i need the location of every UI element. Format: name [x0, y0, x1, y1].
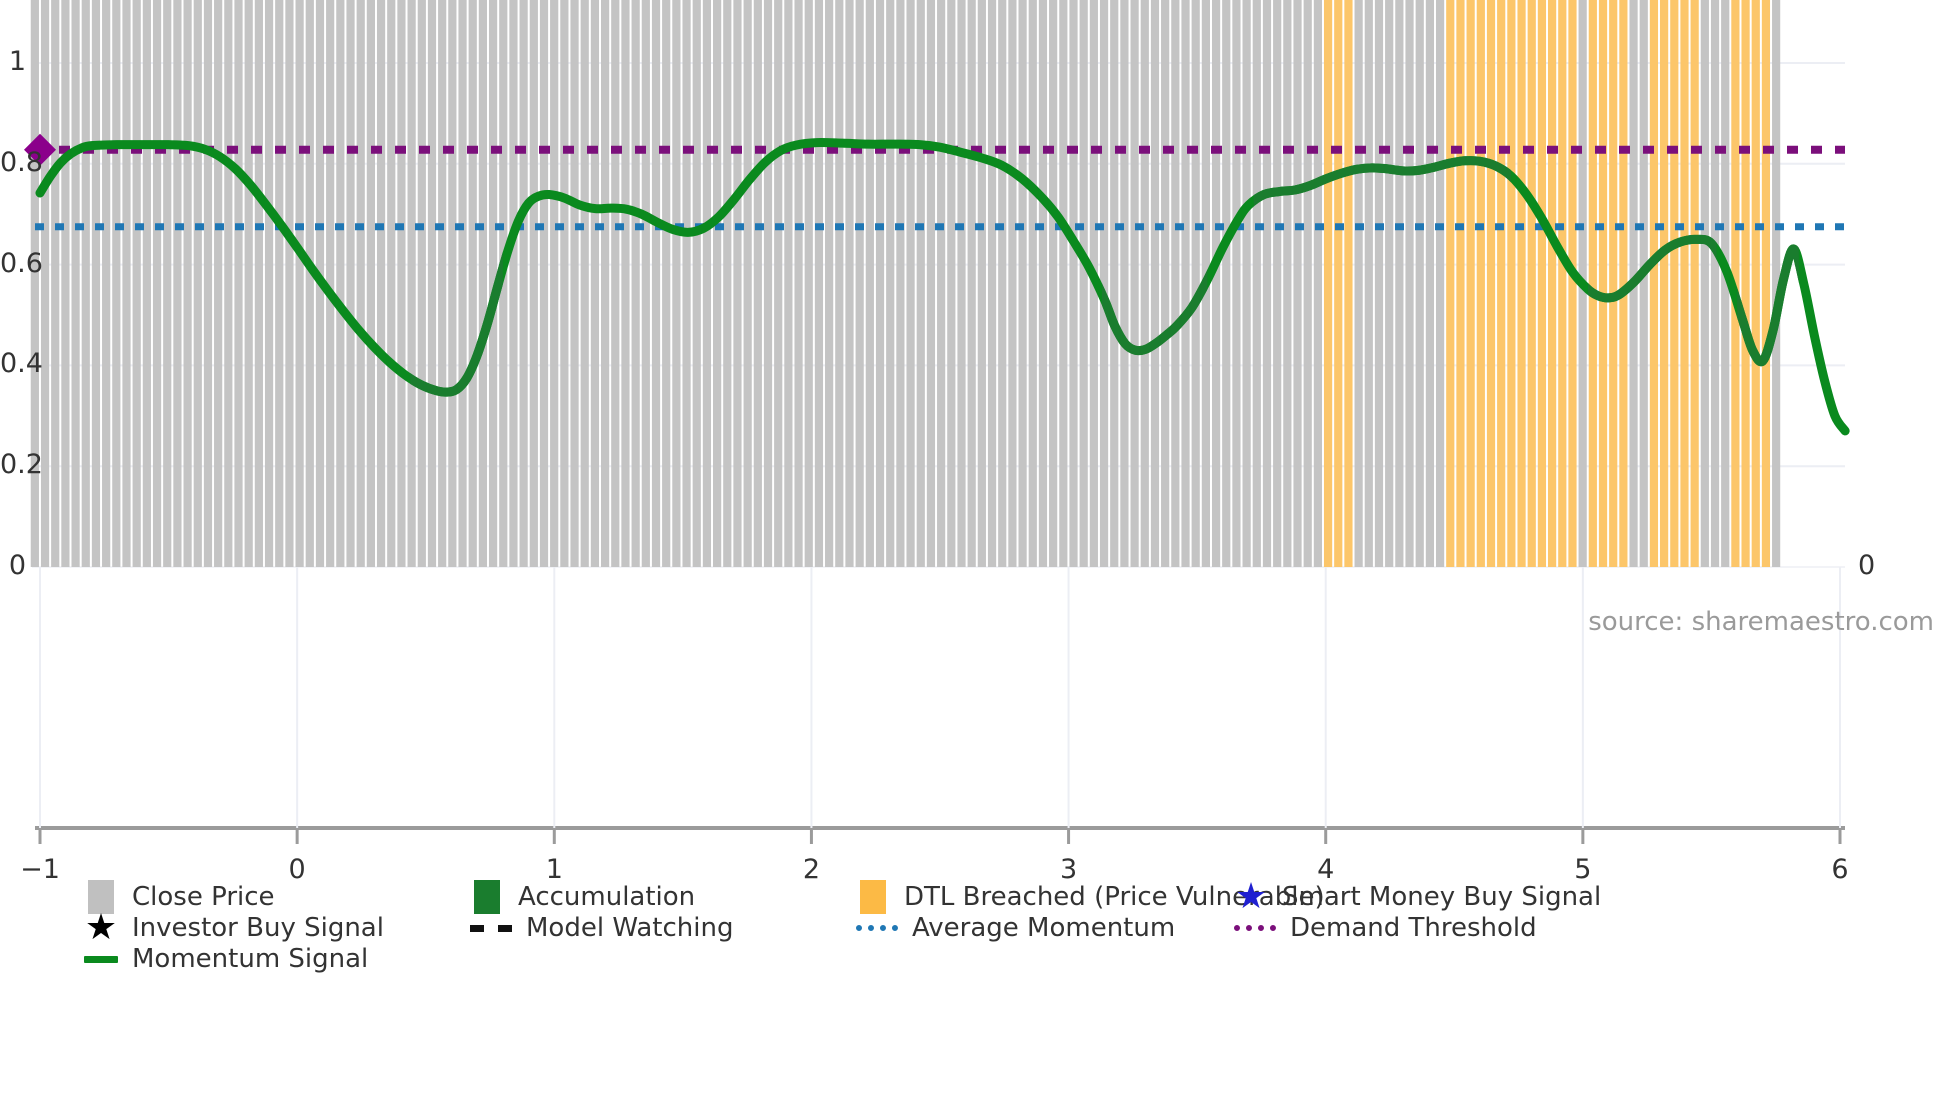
- bar: [713, 0, 721, 567]
- bar: [122, 0, 130, 567]
- bar: [906, 0, 914, 567]
- bar: [41, 0, 49, 567]
- bar: [1477, 0, 1485, 567]
- bar: [275, 0, 283, 567]
- bar: [1069, 0, 1077, 567]
- bar: [1660, 0, 1668, 567]
- bar: [479, 0, 487, 567]
- bar: [143, 0, 151, 567]
- bar: [1609, 0, 1617, 567]
- bar: [825, 0, 833, 567]
- bar: [346, 0, 354, 567]
- bar: [581, 0, 589, 567]
- bar: [682, 0, 690, 567]
- bar: [1691, 0, 1699, 567]
- bar: [978, 0, 986, 567]
- bar: [1528, 0, 1536, 567]
- bar: [1161, 0, 1169, 567]
- bar: [234, 0, 242, 567]
- green-line-swatch: [84, 956, 118, 963]
- green-bar-swatch: [474, 880, 500, 914]
- bar: [876, 0, 884, 567]
- orange-bar-swatch: [860, 880, 886, 914]
- green-bar-swatch: [470, 880, 504, 914]
- bar: [866, 0, 874, 567]
- bar: [560, 0, 568, 567]
- bar: [1110, 0, 1118, 567]
- bar: [896, 0, 904, 567]
- bar: [611, 0, 619, 567]
- bar: [509, 0, 517, 567]
- purple-dotted-line-swatch: [1234, 925, 1276, 931]
- bar: [418, 0, 426, 567]
- bar: [733, 0, 741, 567]
- bar: [1558, 0, 1566, 567]
- blue-star-icon: ★: [1235, 880, 1267, 914]
- y-axis-left-tick: 1: [0, 46, 26, 77]
- bar: [285, 0, 293, 567]
- bar: [621, 0, 629, 567]
- legend-item[interactable]: ★Smart Money Buy Signal: [1234, 880, 1601, 914]
- bar: [917, 0, 925, 567]
- bar: [184, 0, 192, 567]
- source-note: source: sharemaestro.com: [1588, 607, 1934, 637]
- legend-item[interactable]: ★Investor Buy Signal: [84, 911, 384, 945]
- bar: [1039, 0, 1047, 567]
- legend-item[interactable]: Demand Threshold: [1234, 911, 1537, 945]
- bar: [530, 0, 538, 567]
- legend-item[interactable]: Average Momentum: [856, 911, 1175, 945]
- bar: [693, 0, 701, 567]
- bar: [377, 0, 385, 567]
- blue-star-icon: ★: [1234, 880, 1268, 914]
- bar: [1181, 0, 1189, 567]
- bar: [1497, 0, 1505, 567]
- bar: [1049, 0, 1057, 567]
- bar: [1538, 0, 1546, 567]
- bar: [306, 0, 314, 567]
- bar: [1151, 0, 1159, 567]
- legend-item[interactable]: Momentum Signal: [84, 942, 368, 976]
- bar: [1395, 0, 1403, 567]
- bar: [1171, 0, 1179, 567]
- bar: [367, 0, 375, 567]
- bar: [428, 0, 436, 567]
- bar: [214, 0, 222, 567]
- bar: [1405, 0, 1413, 567]
- bar: [1385, 0, 1393, 567]
- bar: [1304, 0, 1312, 567]
- bar: [1212, 0, 1220, 567]
- bar: [1701, 0, 1709, 567]
- bar: [1507, 0, 1515, 567]
- bar: [794, 0, 802, 567]
- bar: [1365, 0, 1373, 567]
- bar: [1355, 0, 1363, 567]
- bar: [173, 0, 181, 567]
- bar: [1548, 0, 1556, 567]
- legend-label: Smart Money Buy Signal: [1282, 882, 1601, 912]
- bar: [764, 0, 772, 567]
- bar: [520, 0, 528, 567]
- bar: [774, 0, 782, 567]
- bar: [1741, 0, 1749, 567]
- bar: [1293, 0, 1301, 567]
- bar: [723, 0, 731, 567]
- bar: [1517, 0, 1525, 567]
- bar: [1375, 0, 1383, 567]
- bar: [642, 0, 650, 567]
- bar: [835, 0, 843, 567]
- bar: [1762, 0, 1770, 567]
- bar: [805, 0, 813, 567]
- bar: [31, 0, 39, 567]
- bar: [784, 0, 792, 567]
- green-line-swatch: [84, 942, 118, 976]
- dashed-line-swatch: [470, 911, 512, 945]
- black-star-icon: ★: [84, 911, 118, 945]
- bar: [1131, 0, 1139, 567]
- bar: [102, 0, 110, 567]
- y-axis-left-tick: 0.6: [0, 248, 26, 279]
- bar: [754, 0, 762, 567]
- chart-svg: [0, 0, 1960, 880]
- blue-dotted-line-swatch: [856, 925, 898, 931]
- legend-item[interactable]: Model Watching: [470, 911, 733, 945]
- bar: [408, 0, 416, 567]
- bar: [1752, 0, 1760, 567]
- chart-root: 00.20.40.60.81 0102030405060 −10123456 s…: [0, 0, 1960, 1102]
- bar: [1141, 0, 1149, 567]
- plot-area: 00.20.40.60.81 0102030405060 −10123456 s…: [0, 0, 1960, 880]
- bar: [937, 0, 945, 567]
- bar: [1436, 0, 1444, 567]
- bar: [744, 0, 752, 567]
- legend-item[interactable]: Accumulation: [470, 880, 695, 914]
- bar: [1467, 0, 1475, 567]
- blue-dotted-line-swatch: [856, 911, 898, 945]
- bar: [947, 0, 955, 567]
- legend-label: Average Momentum: [912, 913, 1175, 943]
- bar: [265, 0, 273, 567]
- bar: [1018, 0, 1026, 567]
- bar: [448, 0, 456, 567]
- bar: [540, 0, 548, 567]
- bar: [1263, 0, 1271, 567]
- y-axis-left-tick: 0.4: [0, 348, 26, 379]
- bar: [204, 0, 212, 567]
- bar: [71, 0, 79, 567]
- bar: [570, 0, 578, 567]
- bar: [92, 0, 100, 567]
- bar: [672, 0, 680, 567]
- bar: [845, 0, 853, 567]
- bar: [61, 0, 69, 567]
- bar: [1008, 0, 1016, 567]
- bar: [652, 0, 660, 567]
- bar: [856, 0, 864, 567]
- bar: [1324, 0, 1332, 567]
- bar: [988, 0, 996, 567]
- bar: [1640, 0, 1648, 567]
- orange-bar-swatch: [856, 880, 890, 914]
- bar: [1426, 0, 1434, 567]
- bar: [1080, 0, 1088, 567]
- bar: [591, 0, 599, 567]
- bar: [1446, 0, 1454, 567]
- legend-label: Demand Threshold: [1290, 913, 1537, 943]
- purple-dotted-line-swatch: [1234, 911, 1276, 945]
- bar: [357, 0, 365, 567]
- y-axis-left-tick: 0: [0, 550, 26, 581]
- axes: [35, 567, 1845, 844]
- legend-label: Accumulation: [518, 882, 695, 912]
- bar: [82, 0, 90, 567]
- legend-label: Close Price: [132, 882, 275, 912]
- bar: [1283, 0, 1291, 567]
- bar: [601, 0, 609, 567]
- bar: [1120, 0, 1128, 567]
- y-axis-right-tick: 0: [1858, 550, 1875, 581]
- bar: [968, 0, 976, 567]
- bar: [387, 0, 395, 567]
- bar: [998, 0, 1006, 567]
- bar: [1416, 0, 1424, 567]
- legend-label: Momentum Signal: [132, 944, 368, 974]
- bar: [1192, 0, 1200, 567]
- bar: [1487, 0, 1495, 567]
- bar: [245, 0, 253, 567]
- bar: [1680, 0, 1688, 567]
- legend-label: Investor Buy Signal: [132, 913, 384, 943]
- y-axis-left-tick: 0.2: [0, 449, 26, 480]
- bar: [1711, 0, 1719, 567]
- bar: [153, 0, 161, 567]
- bar: [957, 0, 965, 567]
- bar: [815, 0, 823, 567]
- bar: [1314, 0, 1322, 567]
- bar: [550, 0, 558, 567]
- bar: [1456, 0, 1464, 567]
- bar: [438, 0, 446, 567]
- bar: [1222, 0, 1230, 567]
- bar: [1059, 0, 1067, 567]
- bar: [397, 0, 405, 567]
- bar: [1253, 0, 1261, 567]
- bar: [1670, 0, 1678, 567]
- y-axis-left-tick: 0.8: [0, 147, 26, 178]
- bar: [1029, 0, 1037, 567]
- bar: [296, 0, 304, 567]
- bar: [632, 0, 640, 567]
- bar: [1568, 0, 1576, 567]
- bar: [336, 0, 344, 567]
- bar: [1599, 0, 1607, 567]
- bar: [112, 0, 120, 567]
- bar: [224, 0, 232, 567]
- bar: [662, 0, 670, 567]
- bar: [255, 0, 263, 567]
- bar: [1243, 0, 1251, 567]
- bar: [927, 0, 935, 567]
- bar: [51, 0, 59, 567]
- bar: [1650, 0, 1658, 567]
- black-star-icon: ★: [85, 911, 117, 945]
- bar: [194, 0, 202, 567]
- bar-series-close-price: [31, 0, 1780, 567]
- bar: [1232, 0, 1240, 567]
- bar: [458, 0, 466, 567]
- bar: [1334, 0, 1342, 567]
- bar: [163, 0, 171, 567]
- bar: [1589, 0, 1597, 567]
- chart-legend: Close PriceAccumulationDTL Breached (Pri…: [0, 880, 1960, 1102]
- bar: [1273, 0, 1281, 567]
- bar: [886, 0, 894, 567]
- bar: [1344, 0, 1352, 567]
- bar: [469, 0, 477, 567]
- dashed-line-swatch: [470, 925, 512, 932]
- bar: [703, 0, 711, 567]
- legend-label: Model Watching: [526, 913, 733, 943]
- bar: [133, 0, 141, 567]
